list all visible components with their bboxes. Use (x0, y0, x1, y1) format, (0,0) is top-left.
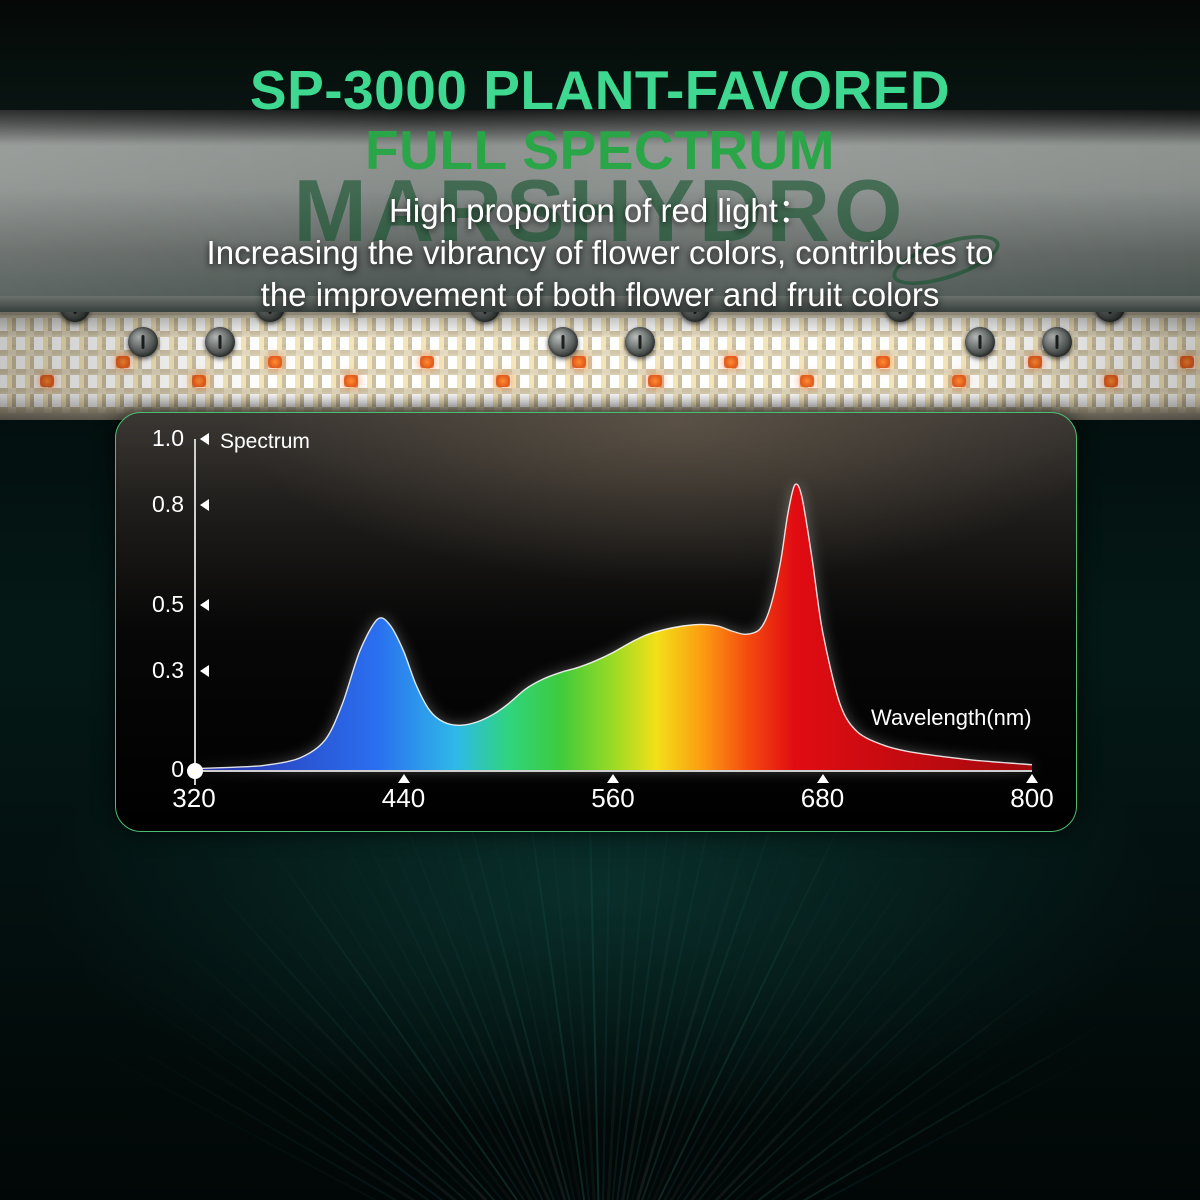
y-axis-line (194, 439, 196, 785)
wavelength-axis-label: Wavelength(nm) (871, 705, 1032, 731)
spectrum-axis-label: Spectrum (220, 430, 310, 454)
headline-line-2: FULL SPECTRUM (0, 122, 1200, 178)
y-tick-label: 0.3 (122, 657, 184, 684)
subheading-line-3: the improvement of both flower and fruit… (0, 274, 1200, 316)
panel-shading (0, 312, 1200, 424)
spectrum-label-marker (200, 433, 209, 445)
y-tick-marker (200, 665, 209, 677)
x-tick-label: 320 (134, 783, 254, 814)
x-axis-line (194, 770, 1032, 772)
x-tick-label: 800 (972, 783, 1077, 814)
x-tick-marker (817, 774, 829, 783)
x-tick-label: 440 (344, 783, 464, 814)
subheading-line-2: Increasing the vibrancy of flower colors… (0, 232, 1200, 274)
x-tick-marker (1026, 774, 1038, 783)
spectrum-chart-panel: 1.00.80.50.30 320440560680800 Spectrum W… (115, 412, 1077, 832)
page-title: SP-3000 PLANT-FAVORED FULL SPECTRUM (0, 62, 1200, 178)
spectrum-curve-svg (116, 413, 1076, 831)
y-tick-marker (200, 599, 209, 611)
subheading-line-1: High proportion of red light： (0, 190, 1200, 232)
led-panel-photo (0, 312, 1200, 424)
y-tick-label: 0.5 (122, 591, 184, 618)
x-tick-label: 680 (763, 783, 883, 814)
x-tick-label: 560 (553, 783, 673, 814)
x-tick-marker (398, 774, 410, 783)
y-tick-label: 1.0 (122, 425, 184, 452)
spectrum-feature-cards (0, 890, 1200, 1120)
spectrum-chart: 1.00.80.50.30 320440560680800 Spectrum W… (116, 413, 1076, 831)
x-tick-marker (607, 774, 619, 783)
origin-point (187, 763, 203, 779)
headline-line-1: SP-3000 PLANT-FAVORED (0, 62, 1200, 118)
subheading: High proportion of red light： Increasing… (0, 190, 1200, 317)
y-tick-label: 0 (122, 756, 184, 783)
y-tick-marker (200, 499, 209, 511)
y-tick-label: 0.8 (122, 491, 184, 518)
